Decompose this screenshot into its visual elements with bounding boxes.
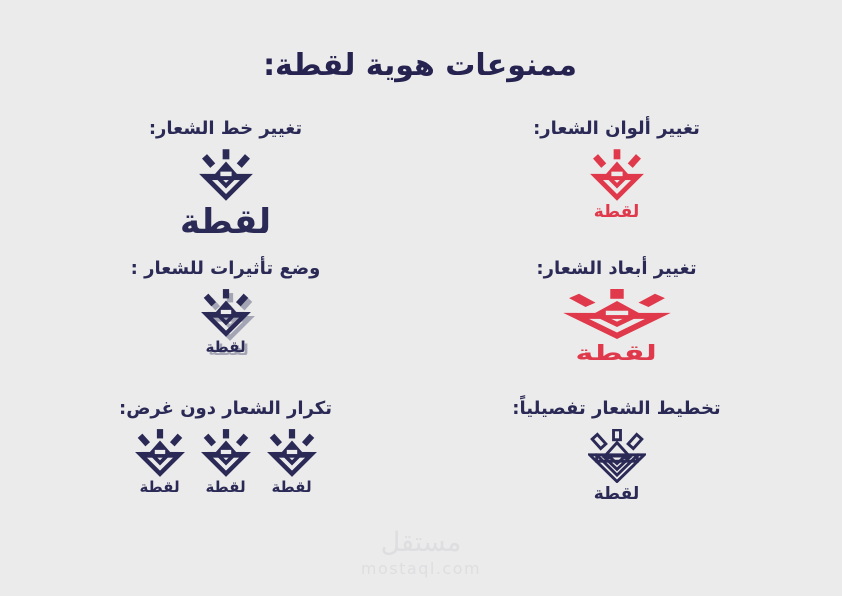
laqta-logo-mark-icon xyxy=(134,429,186,477)
logo-lockup-red-stretched: لقطة xyxy=(561,289,673,364)
logo-wordmark: لقطة xyxy=(271,480,311,495)
page-title: ممنوعات هوية لقطة: xyxy=(50,48,790,84)
watermark-latin-text: mostaql.com xyxy=(361,559,481,578)
logo-lockup-red: لقطة xyxy=(589,149,645,221)
cell-body-detailed-logo-outline: لقطة xyxy=(588,429,646,503)
cell-heading-change-logo-font: تغيير خط الشعار: xyxy=(149,118,302,139)
logo-wordmark: لقطة xyxy=(205,340,245,355)
cell-body-apply-effects-to-logo: لقطة xyxy=(200,289,252,355)
cell-change-logo-proportions: تغيير أبعاد الشعار: لقطة xyxy=(421,258,812,398)
cell-change-logo-colors: تغيير ألوان الشعار: لقطة xyxy=(421,118,812,258)
cell-heading-apply-effects-to-logo: وضع تأثيرات للشعار : xyxy=(131,258,321,279)
logo-wordmark: لقطة xyxy=(594,204,640,221)
cell-heading-repeating-logo-without-purpose: تكرار الشعار دون غرض: xyxy=(119,398,332,419)
logo-wordmark: لقطة xyxy=(205,480,245,495)
logo-lockup-repeat-3: لقطة xyxy=(134,429,186,495)
laqta-logo-mark-icon xyxy=(198,149,254,201)
brand-dont-guidelines-page: ممنوعات هوية لقطة: تغيير ألوان الشعار: xyxy=(0,0,842,596)
cell-apply-effects-to-logo: وضع تأثيرات للشعار : لقطة xyxy=(30,258,421,398)
cell-heading-change-logo-colors: تغيير ألوان الشعار: xyxy=(533,118,700,139)
logo-wordmark: لقطة xyxy=(594,486,640,503)
laqta-logo-mark-icon xyxy=(589,149,645,201)
logo-lockup-navy-outlined: لقطة xyxy=(588,429,646,503)
cell-heading-detailed-logo-outline: تخطيط الشعار تفصيلياً: xyxy=(512,398,720,419)
logo-wordmark: لقطة xyxy=(576,343,657,364)
logo-wordmark: لقطة xyxy=(139,480,179,495)
violations-grid: تغيير ألوان الشعار: لقطة xyxy=(0,118,842,538)
cell-detailed-logo-outline: تخطيط الشعار تفصيلياً: لقطة xyxy=(421,398,812,538)
cell-body-repeating-logo-without-purpose: لقطة لقطة xyxy=(134,429,318,495)
logo-wordmark: لقطة xyxy=(180,205,271,239)
laqta-logo-mark-outline-icon xyxy=(588,429,646,483)
logo-lockup-repeat-2: لقطة xyxy=(200,429,252,495)
cell-heading-change-logo-proportions: تغيير أبعاد الشعار: xyxy=(536,258,696,279)
laqta-logo-mark-icon xyxy=(200,289,252,337)
cell-change-logo-font: تغيير خط الشعار: لقطة xyxy=(30,118,421,258)
cell-body-change-logo-proportions: لقطة xyxy=(561,289,673,364)
logo-lockup-repeat-1: لقطة xyxy=(266,429,318,495)
laqta-logo-mark-icon xyxy=(200,429,252,477)
cell-body-change-logo-colors: لقطة xyxy=(589,149,645,221)
cell-body-change-logo-font: لقطة xyxy=(180,149,271,239)
laqta-logo-mark-icon xyxy=(266,429,318,477)
cell-repeating-logo-without-purpose: تكرار الشعار دون غرض: لقطة xyxy=(30,398,421,538)
logo-lockup-navy-heavy-font: لقطة xyxy=(180,149,271,239)
laqta-logo-mark-icon xyxy=(561,289,673,339)
logo-lockup-navy-shadowed: لقطة xyxy=(200,289,252,355)
